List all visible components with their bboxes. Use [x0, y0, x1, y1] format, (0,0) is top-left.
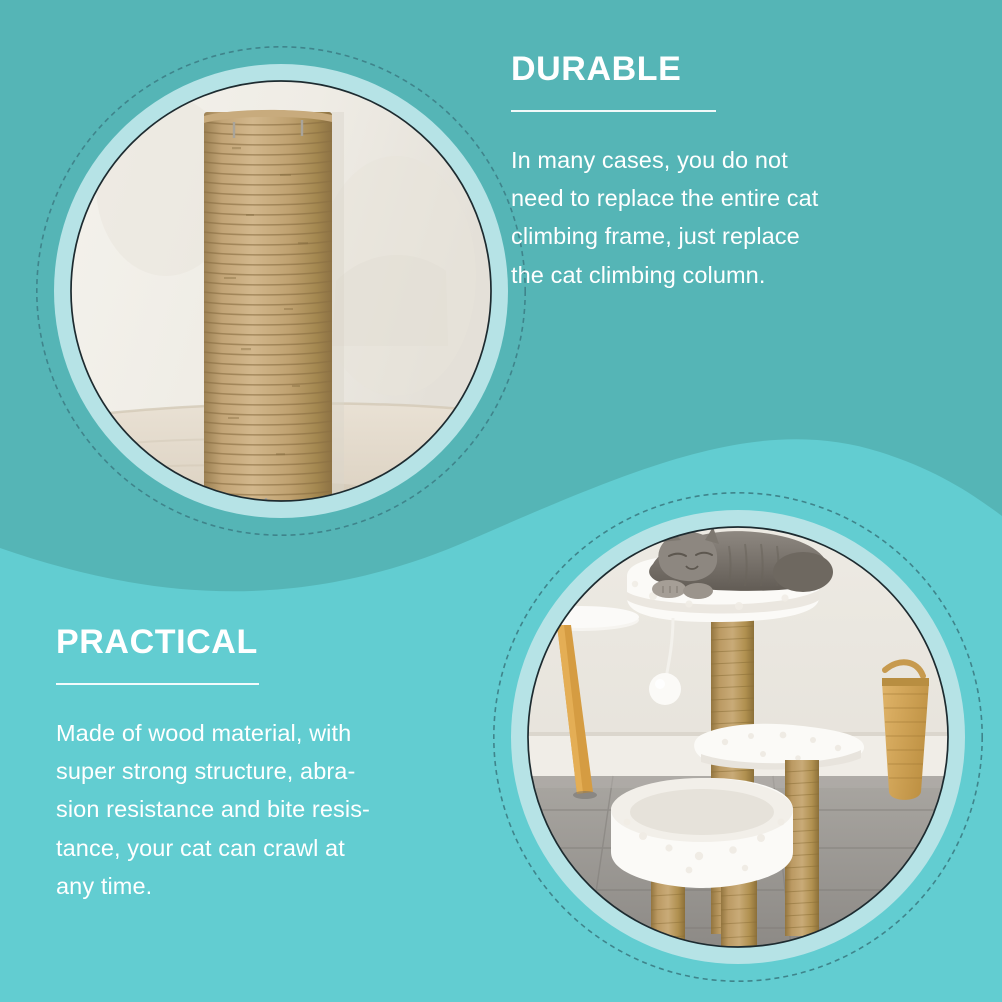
practical-heading: PRACTICAL [56, 625, 476, 661]
durable-body-line-3: climbing frame, just replace [511, 217, 931, 255]
practical-body: Made of wood material, with super strong… [56, 714, 476, 905]
practical-body-line-1: Made of wood material, with [56, 714, 476, 752]
sisal-column [204, 112, 332, 506]
pompom-ball [649, 673, 681, 705]
durable-heading: DURABLE [511, 52, 931, 88]
photo-medallion-sisal-post [36, 46, 526, 536]
practical-body-line-5: any time. [56, 867, 476, 905]
durable-body-line-4: the cat climbing column. [511, 256, 931, 294]
durable-body: In many cases, you do not need to replac… [511, 141, 931, 294]
infographic-canvas: DURABLE In many cases, you do not need t… [0, 0, 1002, 1002]
practical-divider [56, 683, 259, 685]
feature-block-durable: DURABLE In many cases, you do not need t… [511, 52, 931, 294]
practical-body-line-4: tance, your cat can crawl at [56, 829, 476, 867]
practical-body-line-3: sion resistance and bite resis- [56, 790, 476, 828]
durable-divider [511, 110, 716, 112]
feature-block-practical: PRACTICAL Made of wood material, with su… [56, 625, 476, 905]
durable-body-line-2: need to replace the entire cat [511, 179, 931, 217]
photo-medallion-cat-tree [493, 492, 983, 982]
durable-body-line-1: In many cases, you do not [511, 141, 931, 179]
practical-body-line-2: super strong structure, abra- [56, 752, 476, 790]
